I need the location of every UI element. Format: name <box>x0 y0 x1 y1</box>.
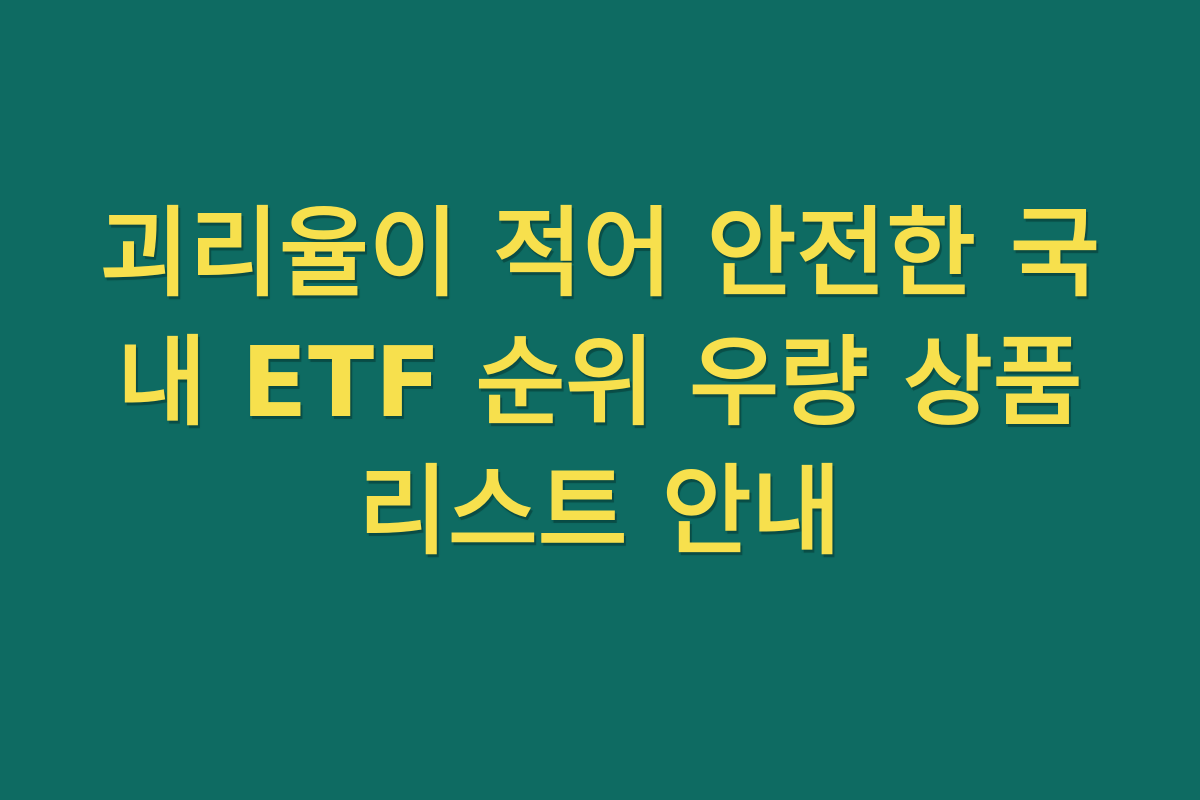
headline-line-1: 괴리율이 적어 안전한 국 <box>70 189 1130 318</box>
headline-line-3: 리스트 안내 <box>70 447 1130 576</box>
page-title: 괴리율이 적어 안전한 국 내 ETF 순위 우량 상품 리스트 안내 <box>70 189 1130 576</box>
headline-line-2: 내 ETF 순위 우량 상품 <box>70 318 1130 447</box>
banner-canvas: 괴리율이 적어 안전한 국 내 ETF 순위 우량 상품 리스트 안내 <box>0 0 1200 800</box>
